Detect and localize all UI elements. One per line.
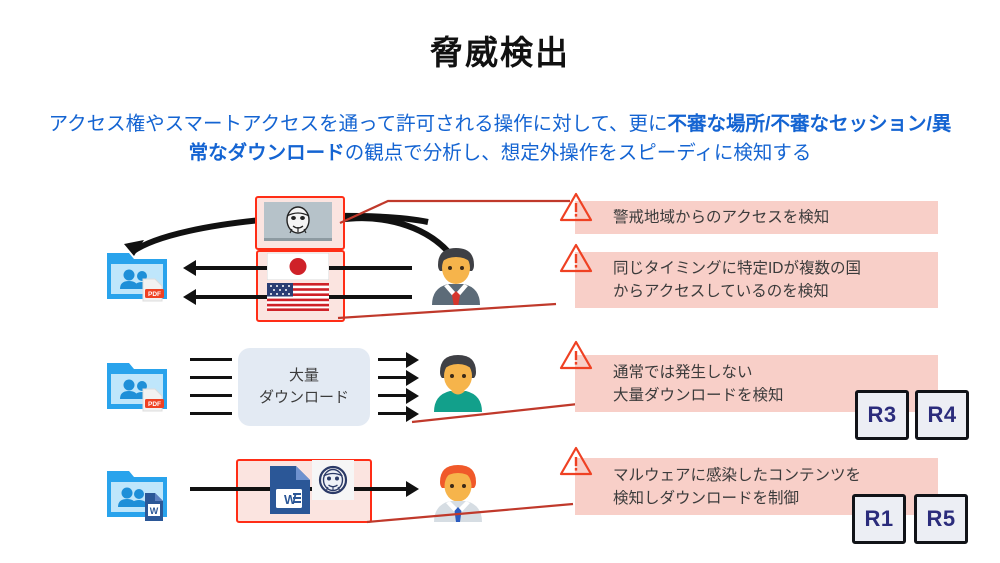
- badge-r5: R5: [914, 494, 968, 544]
- slide-canvas: 脅威検出 アクセス権やスマートアクセスを通って許可される操作に対して、更に不審な…: [0, 0, 1000, 563]
- subtitle-part2: の観点で分析し、想定外操作をスピーディに検知する: [345, 142, 812, 164]
- download-out-arrow-1: [406, 352, 419, 368]
- warning-triangle-icon-1: [559, 192, 593, 222]
- arrow-head-malware: [406, 481, 419, 497]
- download-stream-line-1: [190, 358, 232, 361]
- mass-download-label-line1: 大量: [289, 365, 319, 387]
- mass-download-box: 大量 ダウンロード: [238, 348, 370, 426]
- badge-r4: R4: [915, 390, 969, 440]
- warning-triangle-icon-4: [559, 446, 593, 476]
- svg-text:W: W: [150, 506, 159, 516]
- warning-triangle-icon-2: [559, 243, 593, 273]
- svg-text:PDF: PDF: [148, 401, 161, 408]
- shared-folder-word-icon: W: [105, 463, 169, 521]
- note-1-line1: 警戒地域からのアクセスを検知: [613, 206, 829, 229]
- note-4-line2: 検知しダウンロードを制御: [613, 487, 799, 510]
- download-stream-line-2: [190, 376, 232, 379]
- usa-flag-icon: [267, 283, 329, 316]
- businessman-suit-avatar: [428, 243, 484, 305]
- badge-r4-label: R4: [927, 402, 956, 428]
- download-stream-line-3: [190, 394, 232, 397]
- note-4-line1: マルウェアに感染したコンテンツを: [613, 464, 861, 487]
- download-out-line-1: [378, 358, 408, 361]
- connector-to-note-1: [330, 195, 580, 225]
- connector-to-note-2: [330, 300, 580, 330]
- note-3-line1: 通常では発生しない: [613, 361, 753, 384]
- svg-text:PDF: PDF: [148, 291, 161, 298]
- shared-folder-pdf-icon-2: PDF: [105, 355, 169, 413]
- slide-subtitle: アクセス権やスマートアクセスを通って許可される操作に対して、更に不審な場所/不審…: [45, 110, 955, 168]
- malware-mask-icon: [312, 460, 354, 505]
- note-3-line2: 大量ダウンロードを検知: [613, 384, 784, 407]
- download-out-arrow-2: [406, 370, 419, 386]
- download-stream-line-4: [190, 412, 232, 415]
- note-restricted-region: 警戒地域からのアクセスを検知: [575, 201, 938, 234]
- note-multi-country: 同じタイミングに特定IDが複数の国 からアクセスしているのを検知: [575, 252, 938, 308]
- download-out-line-2: [378, 376, 408, 379]
- page-title: 脅威検出: [0, 26, 1000, 74]
- connector-to-note-3: [410, 400, 590, 428]
- mass-download-label-line2: ダウンロード: [259, 387, 349, 409]
- badge-r3-label: R3: [867, 402, 896, 428]
- badge-r3: R3: [855, 390, 909, 440]
- warning-triangle-icon-3: [559, 340, 593, 370]
- badge-r1: R1: [852, 494, 906, 544]
- arrow-head-japan: [183, 260, 196, 276]
- download-out-line-4: [378, 412, 408, 415]
- download-out-line-3: [378, 394, 408, 397]
- connector-to-note-4: [365, 500, 585, 528]
- arrow-head-usa: [183, 289, 196, 305]
- japan-flag-icon: [267, 253, 329, 285]
- note-2-line1: 同じタイミングに特定IDが複数の国: [613, 257, 861, 280]
- badge-r1-label: R1: [864, 506, 893, 532]
- word-document-icon: W: [268, 464, 312, 521]
- note-2-line2: からアクセスしているのを検知: [613, 280, 829, 303]
- anonymous-mask-flag-icon: [264, 202, 332, 242]
- badge-r5-label: R5: [926, 506, 955, 532]
- subtitle-part1: アクセス権やスマートアクセスを通って許可される操作に対して、更に: [49, 113, 668, 135]
